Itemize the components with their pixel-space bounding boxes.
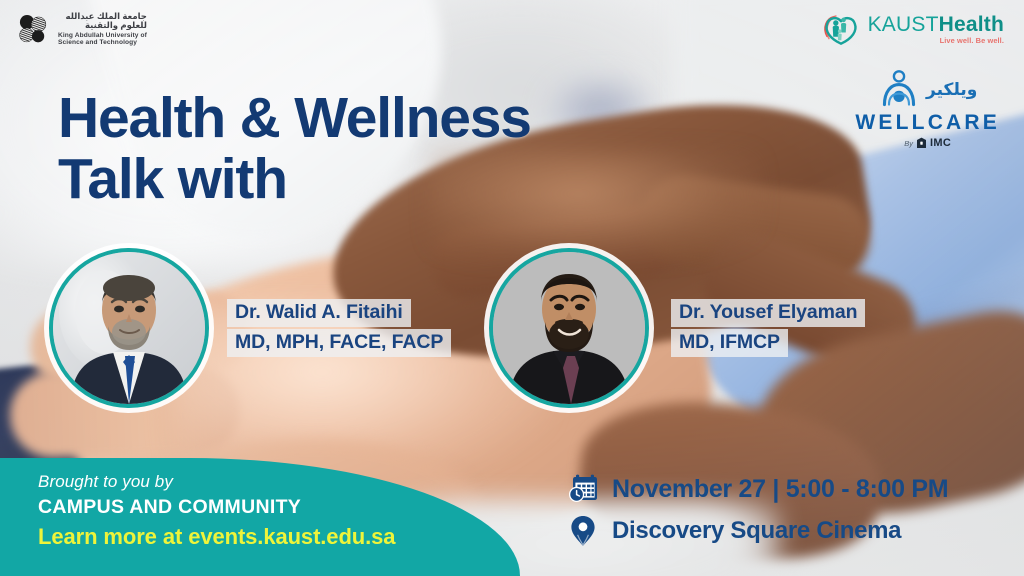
speaker-2-name-block: Dr. Yousef Elyaman MD, IFMCP: [671, 299, 865, 357]
kaust-health-logo: KAUSTHealth Live well. Be well.: [822, 10, 1004, 48]
speaker-2-name: Dr. Yousef Elyaman: [671, 299, 865, 327]
avatar: [489, 248, 649, 408]
speaker-1-name-block: Dr. Walid A. Fitaihi MD, MPH, FACE, FACP: [227, 299, 451, 357]
brought-to-you-by-label: Brought to you by: [38, 472, 395, 492]
portrait-yousef-elyaman: [493, 252, 645, 404]
kaust-spheres-icon: [16, 12, 50, 46]
calendar-clock-icon: [566, 472, 600, 506]
kaust-university-logo: جامعة الملك عبدالله للعلوم والتقنية King…: [16, 12, 147, 47]
wellcare-logo: ويلكير WELLCARE By IMC: [855, 70, 1000, 149]
speaker-2-credentials: MD, IFMCP: [671, 329, 788, 357]
wellcare-arabic: ويلكير: [926, 80, 977, 100]
kaust-health-word-health: Health: [939, 13, 1004, 36]
title-line-2: Talk with: [58, 149, 531, 210]
wellcare-by-label: By: [904, 139, 913, 148]
speaker-1-name: Dr. Walid A. Fitaihi: [227, 299, 411, 327]
title-line-1: Health & Wellness: [58, 88, 531, 149]
kaust-logo-english-line2: Science and Technology: [58, 39, 147, 46]
avatar: [49, 248, 209, 408]
learn-more-link[interactable]: Learn more at events.kaust.edu.sa: [38, 524, 395, 550]
kaust-logo-arabic-line2: للعلوم والتقنية: [58, 21, 147, 30]
organizer-name: CAMPUS AND COMMUNITY: [38, 496, 395, 519]
speaker-yousef-elyaman: Dr. Yousef Elyaman MD, IFMCP: [489, 248, 865, 408]
event-date-row: November 27 | 5:00 - 8:00 PM: [566, 472, 948, 506]
kaust-health-tagline: Live well. Be well.: [940, 37, 1004, 44]
event-poster: جامعة الملك عبدالله للعلوم والتقنية King…: [0, 0, 1024, 576]
imc-shield-icon: [916, 137, 927, 149]
wellcare-wordmark: WELLCARE: [855, 111, 1000, 135]
kaust-health-family-icon: [822, 10, 860, 48]
location-pin-icon: [566, 514, 600, 548]
event-date-time: November 27 | 5:00 - 8:00 PM: [612, 475, 948, 504]
speaker-1-credentials: MD, MPH, FACE, FACP: [227, 329, 451, 357]
portrait-walid-fitaihi: [53, 252, 205, 404]
wellcare-figure-icon: [878, 70, 920, 110]
speaker-walid-fitaihi: Dr. Walid A. Fitaihi MD, MPH, FACE, FACP: [49, 248, 451, 408]
kaust-health-word-kaust: KAUST: [868, 13, 939, 36]
event-details: November 27 | 5:00 - 8:00 PM Discovery S…: [566, 472, 948, 556]
event-venue: Discovery Square Cinema: [612, 517, 901, 545]
page-title: Health & Wellness Talk with: [58, 88, 531, 210]
event-venue-row: Discovery Square Cinema: [566, 514, 948, 548]
kaust-logo-english-line1: King Abdullah University of: [58, 32, 147, 39]
kaust-health-wordmark: KAUSTHealth: [868, 14, 1004, 35]
wellcare-imc-brand: IMC: [930, 137, 951, 149]
